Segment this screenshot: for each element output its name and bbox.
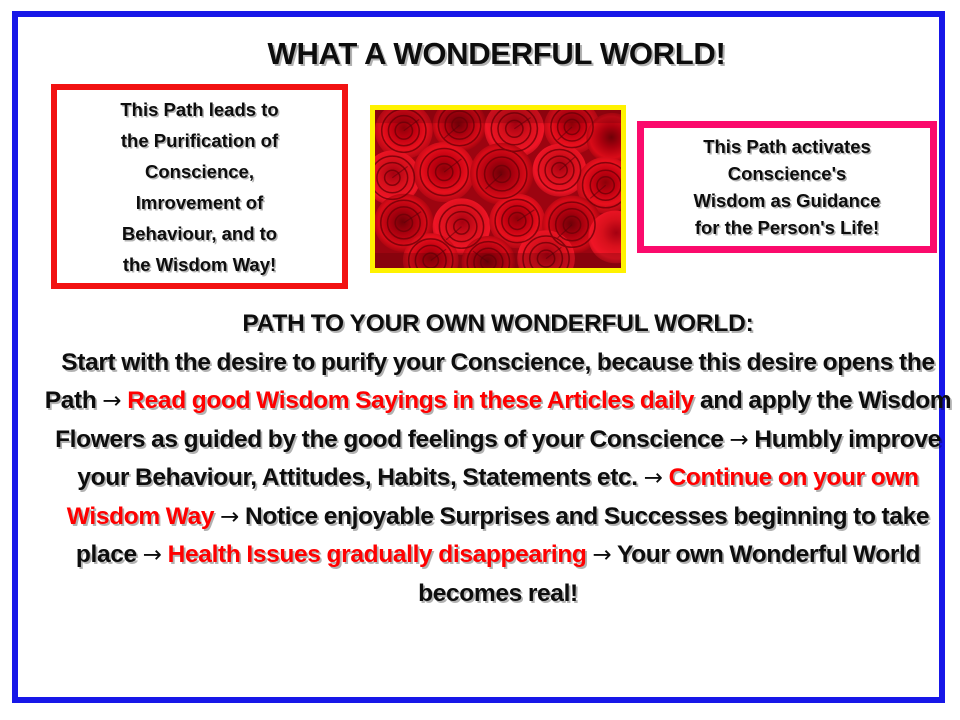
red-roses-photo <box>375 110 621 268</box>
right-callout-box: This Path activatesConscience'sWisdom as… <box>637 121 937 253</box>
body-paragraph: PATH TO YOUR OWN WONDERFUL WORLD:Start w… <box>40 305 956 613</box>
callout-line: Conscience's <box>728 163 847 184</box>
callout-line: for the Person's Life! <box>695 217 879 238</box>
callout-line: Behaviour, and to <box>122 223 277 244</box>
poster-blue-frame: WHAT A WONDERFUL WORLD! This Path leads … <box>12 11 945 703</box>
callout-line: Wisdom as Guidance <box>694 190 881 211</box>
left-callout-text: This Path leads tothe Purification ofCon… <box>57 94 342 280</box>
arrow-icon: → <box>730 427 749 453</box>
highlighted-phrase: Read good Wisdom Sayings in these Articl… <box>127 387 694 414</box>
page-title: WHAT A WONDERFUL WORLD! <box>30 36 960 72</box>
arrow-icon: → <box>220 504 239 530</box>
poster-root: WHAT A WONDERFUL WORLD! This Path leads … <box>0 0 960 720</box>
arrow-icon: → <box>644 465 663 491</box>
arrow-icon: → <box>143 542 162 568</box>
left-callout-box: This Path leads tothe Purification ofCon… <box>51 84 348 289</box>
highlighted-phrase: Health Issues gradually disappearing <box>168 541 587 568</box>
callout-line: the Purification of <box>121 130 278 151</box>
callout-line: This Path leads to <box>120 99 278 120</box>
callout-line: the Wisdom Way! <box>123 254 276 275</box>
right-callout-text: This Path activatesConscience'sWisdom as… <box>644 133 930 241</box>
body-heading: PATH TO YOUR OWN WONDERFUL WORLD: <box>40 305 956 344</box>
callout-line: Imrovement of <box>136 192 263 213</box>
roses-image-frame <box>370 105 626 273</box>
arrow-icon: → <box>593 542 612 568</box>
callout-line: This Path activates <box>703 136 871 157</box>
callout-line: Conscience, <box>145 161 254 182</box>
arrow-icon: → <box>102 388 121 414</box>
